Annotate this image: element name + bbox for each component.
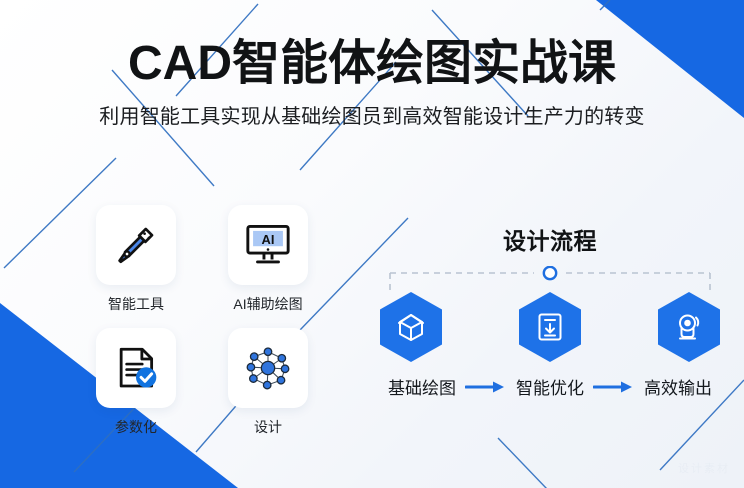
feature-card[interactable] — [228, 328, 308, 408]
feature-item-parametric[interactable]: 参数化 — [88, 328, 184, 437]
feature-label: 参数化 — [88, 417, 184, 437]
flow-bracket — [384, 266, 716, 292]
poster-canvas: CAD智能体绘图实战课 利用智能工具实现从基础绘图员到高效智能设计生产力的转变 … — [0, 0, 744, 488]
feature-card[interactable]: AI — [228, 205, 308, 285]
document-download-icon — [535, 311, 565, 343]
poster-header: CAD智能体绘图实战课 利用智能工具实现从基础绘图员到高效智能设计生产力的转变 — [0, 38, 744, 129]
feature-label: 智能工具 — [88, 294, 184, 314]
flow-step-label-2: 智能优化 — [516, 374, 584, 399]
poster-title: CAD智能体绘图实战课 — [0, 38, 744, 90]
arrow-right-icon-2 — [593, 380, 635, 394]
dashed-bracket-connector — [384, 266, 716, 292]
document-check-icon — [111, 343, 161, 393]
flow-step-labels: 基础绘图 智能优化 高效输出 — [362, 374, 738, 399]
flow-hex-smart-optimize[interactable] — [519, 292, 581, 362]
flow-title: 设计流程 — [362, 222, 738, 256]
feature-item-pen-tool[interactable]: 智能工具 — [88, 205, 184, 314]
watermark-text: 设计素材 — [678, 460, 730, 476]
ai-badge-text: AI — [262, 232, 275, 247]
feature-label: 设计 — [220, 417, 316, 437]
flow-hex-efficient-output[interactable] — [658, 292, 720, 362]
ai-monitor-icon: AI — [242, 220, 294, 270]
pen-tool-icon — [111, 220, 161, 270]
feature-item-ai-drawing[interactable]: AI AI辅助绘图 — [220, 205, 316, 314]
neural-network-icon — [242, 342, 294, 394]
feature-label: AI辅助绘图 — [220, 294, 316, 314]
feature-card[interactable] — [96, 205, 176, 285]
cube-box-icon — [395, 311, 427, 343]
arrow-right-icon-1 — [465, 380, 507, 394]
flow-hub-node-icon — [544, 267, 556, 279]
feature-item-design[interactable]: 设计 — [220, 328, 316, 437]
location-pin-icon — [673, 311, 705, 343]
feature-card-grid: 智能工具 AI AI辅助绘图 — [88, 205, 316, 437]
design-flow-panel: 设计流程 — [362, 222, 738, 399]
poster-subtitle: 利用智能工具实现从基础绘图员到高效智能设计生产力的转变 — [0, 100, 744, 129]
flow-step-label-1: 基础绘图 — [388, 374, 456, 399]
flow-step-label-3: 高效输出 — [644, 374, 712, 399]
feature-card[interactable] — [96, 328, 176, 408]
flow-hex-basic-drawing[interactable] — [380, 292, 442, 362]
flow-hexagon-row — [366, 292, 734, 362]
